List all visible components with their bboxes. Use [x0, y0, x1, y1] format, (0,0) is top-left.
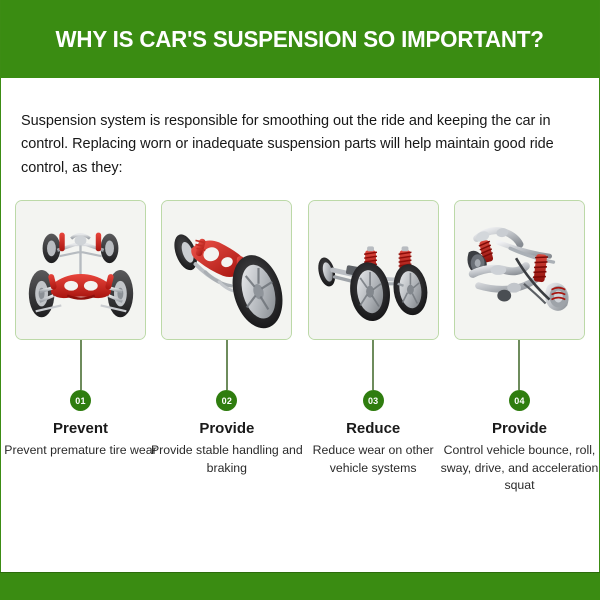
- connector-line-04: [518, 340, 520, 390]
- step-item-02: 02 Provide Provide stable handling and b…: [161, 340, 292, 494]
- step-description-01: Prevent premature tire wear: [1, 442, 161, 459]
- step-item-01: 01 Prevent Prevent premature tire wear: [15, 340, 146, 494]
- page-title: WHY IS CAR'S SUSPENSION SO IMPORTANT?: [56, 26, 544, 53]
- infographic-page: WHY IS CAR'S SUSPENSION SO IMPORTANT? Su…: [0, 0, 600, 600]
- header-banner: WHY IS CAR'S SUSPENSION SO IMPORTANT?: [1, 0, 599, 78]
- footer-bar: [0, 572, 600, 600]
- step-heading-02: Provide: [199, 420, 254, 437]
- step-description-02: Provide stable handling and braking: [147, 442, 307, 477]
- intro-block: Suspension system is responsible for smo…: [1, 78, 599, 180]
- card-02: [161, 200, 292, 340]
- axle-with-coil-springs-and-wheels-illustration: [309, 201, 438, 339]
- front-rear-suspension-assembly-illustration: [16, 201, 145, 339]
- steps-row: 01 Prevent Prevent premature tire wear 0…: [1, 340, 599, 494]
- step-item-04: 04 Provide Control vehicle bounce, roll,…: [454, 340, 585, 494]
- step-item-03: 03 Reduce Reduce wear on other vehicle s…: [308, 340, 439, 494]
- step-badge-04: 04: [509, 390, 530, 411]
- step-description-04: Control vehicle bounce, roll, sway, driv…: [439, 442, 599, 494]
- step-badge-01: 01: [70, 390, 91, 411]
- step-heading-01: Prevent: [53, 420, 108, 437]
- card-01: [15, 200, 146, 340]
- card-03: [308, 200, 439, 340]
- card-04: [454, 200, 585, 340]
- step-description-03: Reduce wear on other vehicle systems: [293, 442, 453, 477]
- step-badge-03: 03: [363, 390, 384, 411]
- connector-line-02: [226, 340, 228, 390]
- intro-paragraph: Suspension system is responsible for smo…: [21, 110, 577, 180]
- illustration-cards-row: [1, 200, 599, 340]
- step-badge-02: 02: [216, 390, 237, 411]
- rear-axle-subframe-with-alloy-wheel-illustration: [162, 201, 291, 339]
- step-heading-04: Provide: [492, 420, 547, 437]
- step-heading-03: Reduce: [346, 420, 400, 437]
- control-arms-and-struts-assembly-illustration: [455, 201, 584, 339]
- connector-line-03: [372, 340, 374, 390]
- connector-line-01: [80, 340, 82, 390]
